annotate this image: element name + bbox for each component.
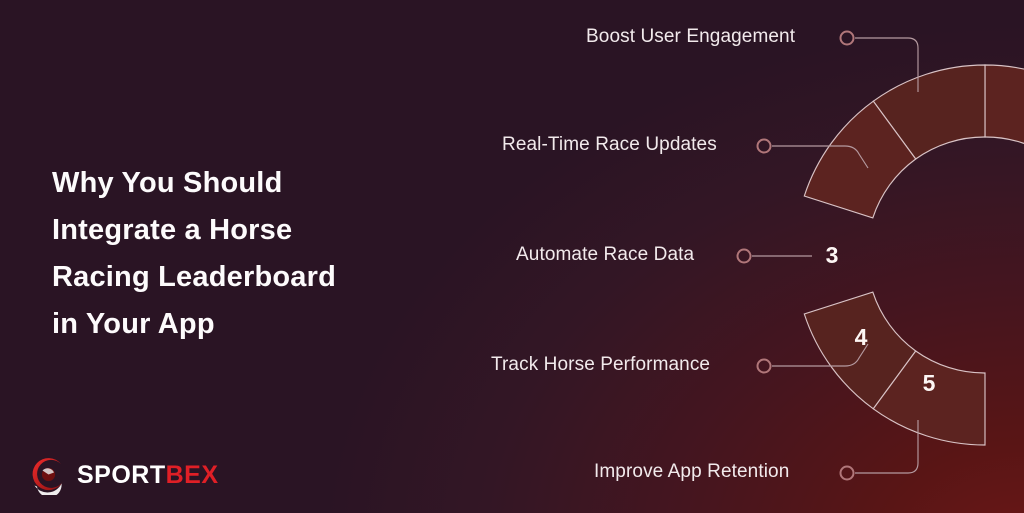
connector-dot-1 (841, 32, 854, 45)
connector-dot-5 (841, 467, 854, 480)
step-label-5[interactable]: Improve App Retention (594, 461, 789, 483)
step-label-4[interactable]: Track Horse Performance (491, 354, 710, 376)
donut-segment-1[interactable] (985, 65, 1024, 159)
donut-chart: 1 2 3 4 5 (0, 0, 1024, 513)
donut-segment-3-number: 3 (826, 242, 839, 268)
donut-segment-5-number: 5 (923, 370, 936, 396)
step-label-2[interactable]: Real-Time Race Updates (502, 134, 717, 156)
infographic-banner: Why You Should Integrate a Horse Racing … (0, 0, 1024, 513)
step-label-1[interactable]: Boost User Engagement (586, 26, 795, 48)
connector-dot-4 (758, 360, 771, 373)
connector-dot-2 (758, 140, 771, 153)
donut-segment-4-number: 4 (855, 324, 868, 350)
connector-dot-3 (738, 250, 751, 263)
step-label-3[interactable]: Automate Race Data (516, 244, 694, 266)
